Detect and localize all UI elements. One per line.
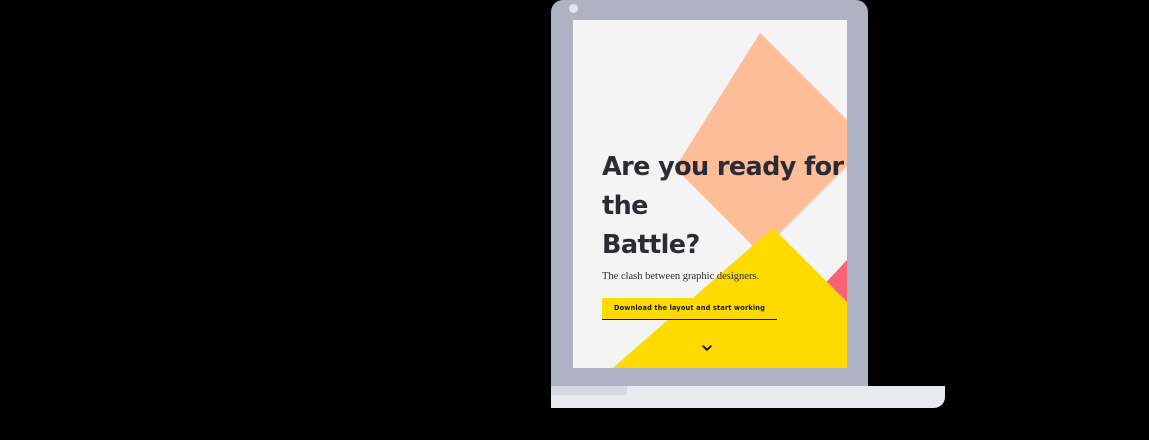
hero-section: Are you ready for the Battle? The clash … [602, 148, 847, 320]
screenshot-canvas: Are you ready for the Battle? The clash … [0, 0, 1149, 440]
website-viewport: Are you ready for the Battle? The clash … [573, 20, 847, 368]
download-layout-button[interactable]: Download the layout and start working [602, 298, 777, 320]
scroll-down-button[interactable] [699, 340, 715, 356]
webcam-icon [569, 4, 578, 13]
hero-subtitle: The clash between graphic designers. [602, 270, 847, 284]
laptop-mockup: Are you ready for the Battle? The clash … [0, 0, 1149, 440]
laptop-base-notch [551, 386, 627, 395]
laptop-screen: Are you ready for the Battle? The clash … [573, 20, 847, 368]
page-title: Are you ready for the Battle? [602, 148, 847, 265]
chevron-down-icon [699, 340, 715, 356]
